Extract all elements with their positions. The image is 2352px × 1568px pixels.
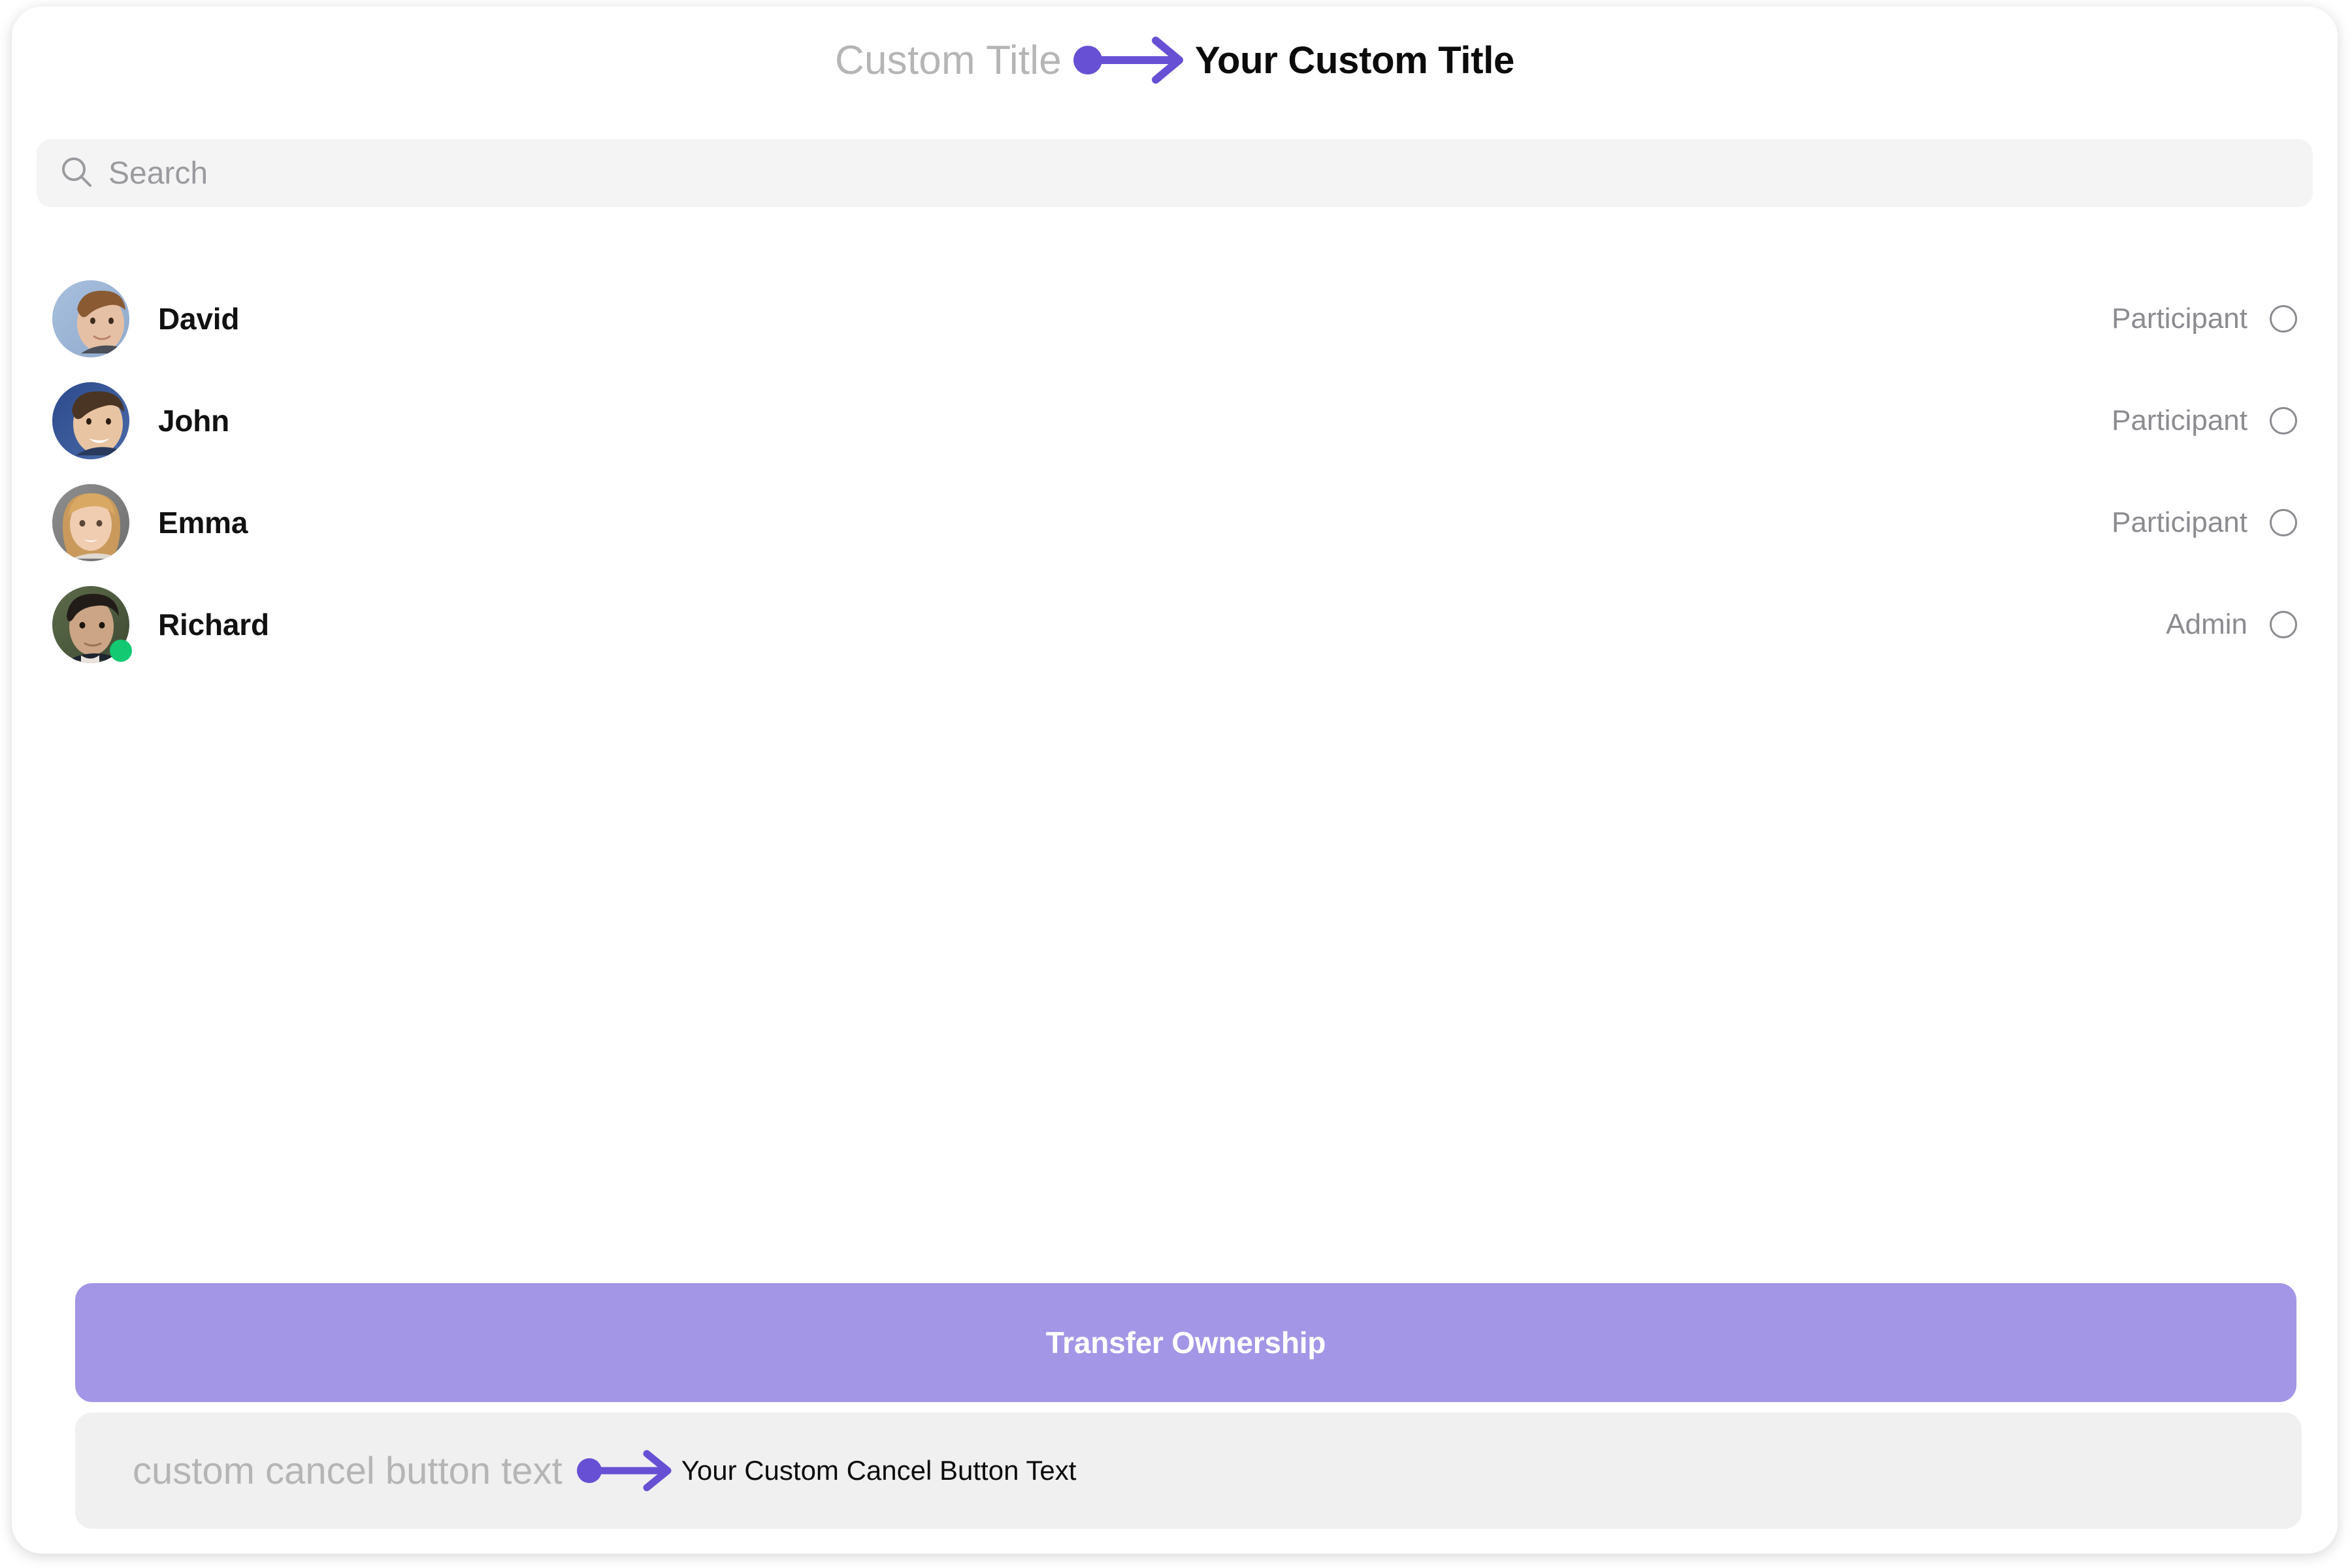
transfer-ownership-card: Custom Title Your Custom Title Search	[12, 7, 2338, 1554]
avatar	[52, 586, 129, 663]
page-title: Your Custom Title	[1195, 39, 1514, 82]
transfer-ownership-label: Transfer Ownership	[1046, 1325, 1326, 1360]
member-list: David Participant	[12, 268, 2338, 676]
cancel-button-label: Your Custom Cancel Button Text	[681, 1455, 1077, 1486]
member-role: Participant	[2112, 506, 2247, 539]
search-placeholder: Search	[108, 155, 208, 191]
member-select-radio[interactable]	[2270, 611, 2297, 638]
member-select-radio[interactable]	[2270, 305, 2297, 333]
header: Custom Title Your Custom Title	[12, 21, 2338, 99]
avatar	[52, 382, 129, 459]
search-input[interactable]: Search	[37, 139, 2313, 207]
cancel-button[interactable]: custom cancel button text Your Custom Ca…	[75, 1413, 2302, 1529]
member-name: John	[158, 403, 229, 438]
avatar-david	[52, 280, 129, 357]
avatar-john	[52, 382, 129, 459]
member-row-david[interactable]: David Participant	[12, 268, 2338, 370]
member-row-john[interactable]: John Participant	[12, 370, 2338, 472]
header-annotation-label: Custom Title	[835, 37, 1062, 84]
avatar-emma	[52, 484, 129, 561]
cancel-annotation-label: custom cancel button text	[133, 1449, 563, 1493]
member-role: Participant	[2112, 404, 2247, 437]
transfer-ownership-button[interactable]: Transfer Ownership	[75, 1283, 2296, 1402]
member-role: Admin	[2166, 608, 2247, 641]
member-name: Emma	[158, 505, 248, 540]
member-select-radio[interactable]	[2270, 407, 2297, 434]
avatar	[52, 484, 129, 561]
member-row-emma[interactable]: Emma Participant	[12, 472, 2338, 574]
long-right-arrow-icon	[1073, 35, 1186, 85]
member-role: Participant	[2112, 302, 2247, 335]
member-name: David	[158, 301, 239, 336]
search-icon	[59, 154, 94, 193]
member-name: Richard	[158, 607, 269, 642]
member-row-richard[interactable]: Richard Admin	[12, 574, 2338, 676]
long-right-arrow-icon	[577, 1448, 674, 1493]
avatar	[52, 280, 129, 357]
online-status-dot	[110, 640, 132, 662]
member-select-radio[interactable]	[2270, 509, 2297, 536]
